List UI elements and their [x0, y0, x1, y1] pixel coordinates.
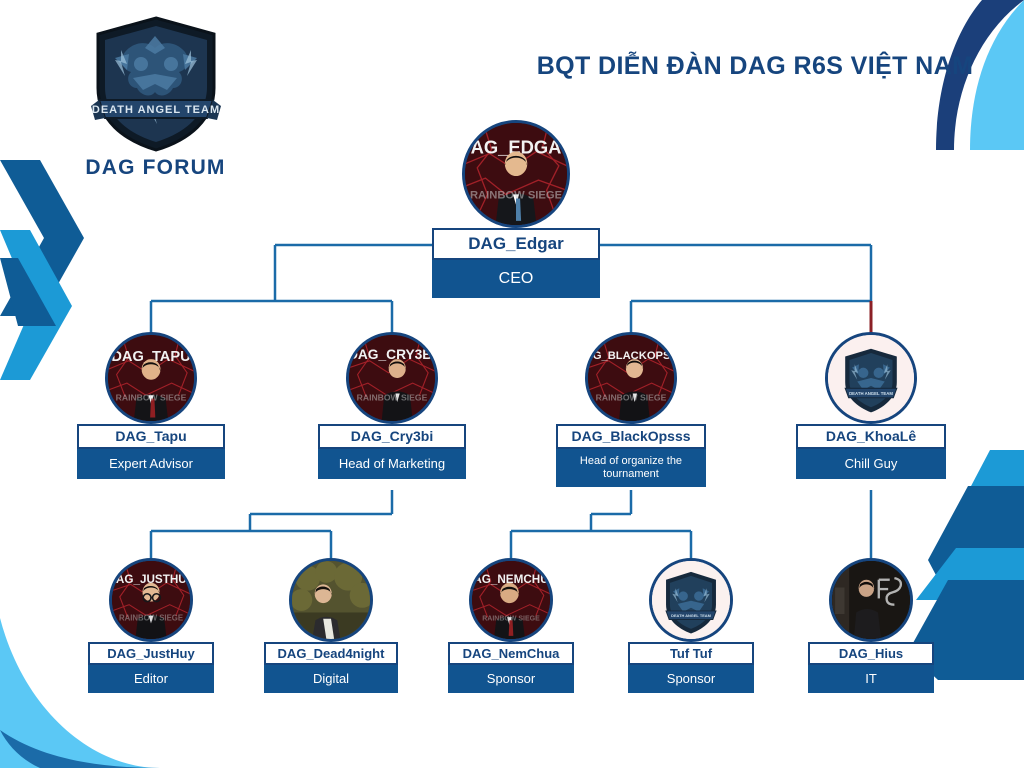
org-node-title: Sponsor [628, 665, 754, 693]
org-node-edgar[interactable]: DAG_EDGAR RAINBOW SIEGE DAG_Edgar CEO [432, 120, 600, 298]
org-node-name: DAG_Cry3bi [318, 424, 466, 449]
svg-text:RAINBOW SIEGE: RAINBOW SIEGE [119, 613, 183, 622]
svg-text:RAINBOW SIEGE: RAINBOW SIEGE [470, 189, 563, 201]
org-node-title: CEO [432, 260, 600, 298]
org-node-name: DAG_Tapu [77, 424, 225, 449]
org-node-name: DAG_Hius [808, 642, 934, 665]
svg-text:DEATH ANGEL TEAM: DEATH ANGEL TEAM [849, 391, 893, 396]
org-node-blackopsss[interactable]: DAG_BLACKOPSSS RAINBOW SIEGE DAG_BlackOp… [556, 332, 706, 487]
avatar-dag-blackopsss-icon: DAG_BLACKOPSSS RAINBOW SIEGE [585, 332, 677, 424]
svg-text:RAINBOW SIEGE: RAINBOW SIEGE [596, 392, 667, 402]
org-node-name: DAG_Dead4night [264, 642, 398, 665]
org-node-name: DAG_JustHuy [88, 642, 214, 665]
avatar-dag-nemchua-icon: DAG_NEMCHUA RAINBOW SIEGE [469, 558, 553, 642]
org-node-name: Tuf Tuf [628, 642, 754, 665]
org-node-name: DAG_Edgar [432, 228, 600, 260]
org-node-title: Chill Guy [796, 449, 946, 479]
avatar-dag-dead4night-icon [289, 558, 373, 642]
org-node-title: Editor [88, 665, 214, 693]
org-node-nemchua[interactable]: DAG_NEMCHUA RAINBOW SIEGE DAG_NemChua Sp… [448, 558, 574, 693]
org-node-name: DAG_NemChua [448, 642, 574, 665]
org-node-title: Head of Marketing [318, 449, 466, 479]
org-node-dead4night[interactable]: DAG_Dead4night Digital [264, 558, 398, 693]
org-node-name: DAG_BlackOpsss [556, 424, 706, 449]
org-node-title: Head of organize the tournament [556, 449, 706, 487]
org-node-title: Sponsor [448, 665, 574, 693]
svg-text:DAG_CRY3BI: DAG_CRY3BI [349, 347, 435, 362]
org-node-tuftuf[interactable]: DEATH ANGEL TEAM Tuf Tuf Sponsor [628, 558, 754, 693]
svg-text:RAINBOW SIEGE: RAINBOW SIEGE [357, 392, 428, 402]
avatar-dag-khoale-icon: DEATH ANGEL TEAM [825, 332, 917, 424]
org-node-title: IT [808, 665, 934, 693]
svg-text:DEATH ANGEL TEAM: DEATH ANGEL TEAM [671, 613, 711, 618]
avatar-dag-tapu-icon: DAG_TAPU RAINBOW SIEGE [105, 332, 197, 424]
avatar-tuftuf-icon: DEATH ANGEL TEAM [649, 558, 733, 642]
org-node-name: DAG_KhoaLê [796, 424, 946, 449]
org-node-khoale[interactable]: DEATH ANGEL TEAM DAG_KhoaLê Chill Guy [796, 332, 946, 479]
avatar-dag-justhuy-icon: DAG_JUSTHUY RAINBOW SIEGE [109, 558, 193, 642]
avatar-dag-edgar-icon: DAG_EDGAR RAINBOW SIEGE [462, 120, 570, 228]
org-node-tapu[interactable]: DAG_TAPU RAINBOW SIEGE DAG_Tapu Expert A… [76, 332, 226, 479]
org-node-title: Expert Advisor [77, 449, 225, 479]
avatar-dag-hius-icon [829, 558, 913, 642]
org-node-justhuy[interactable]: DAG_JUSTHUY RAINBOW SIEGE DAG_JustHuy Ed… [88, 558, 214, 693]
org-node-title: Digital [264, 665, 398, 693]
org-node-hius[interactable]: DAG_Hius IT [808, 558, 934, 693]
org-chart-canvas: DEATH ANGEL TEAM DAG FORUM BQT DIỄN ĐÀN … [0, 0, 1024, 768]
avatar-dag-cry3bi-icon: DAG_CRY3BI RAINBOW SIEGE [346, 332, 438, 424]
svg-text:RAINBOW SIEGE: RAINBOW SIEGE [482, 615, 540, 622]
org-node-cry3bi[interactable]: DAG_CRY3BI RAINBOW SIEGE DAG_Cry3bi Head… [317, 332, 467, 479]
svg-text:RAINBOW SIEGE: RAINBOW SIEGE [116, 392, 187, 402]
